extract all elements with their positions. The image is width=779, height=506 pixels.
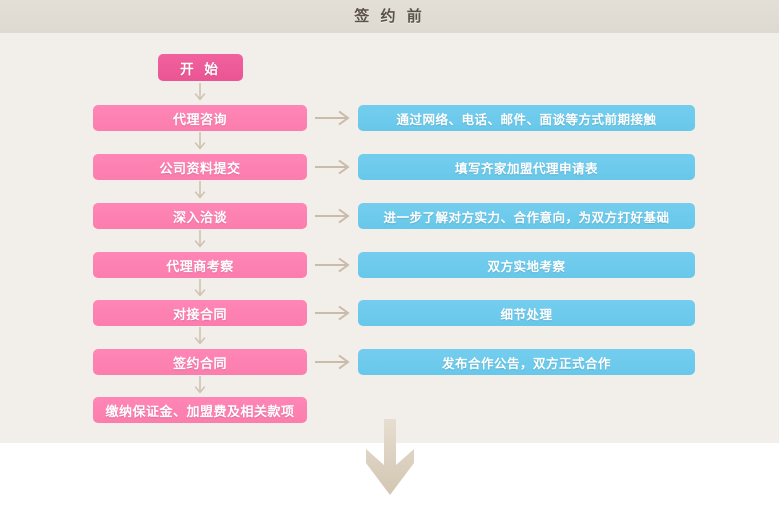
flow-detail-6[interactable]: 发布合作公告，双方正式合作 <box>358 349 695 375</box>
right-arrow-icon <box>314 158 352 176</box>
flow-detail-2[interactable]: 填写齐家加盟代理申请表 <box>358 154 695 180</box>
right-arrow-icon <box>314 304 352 322</box>
down-arrow-icon <box>193 278 207 300</box>
flow-node-start[interactable]: 开 始 <box>158 54 243 81</box>
flow-detail-5[interactable]: 细节处理 <box>358 300 695 326</box>
right-arrow-icon <box>314 256 352 274</box>
down-arrow-icon <box>193 131 207 153</box>
flow-detail-4[interactable]: 双方实地考察 <box>358 252 695 278</box>
flow-node-step-1[interactable]: 代理咨询 <box>93 105 307 131</box>
down-arrow-icon <box>193 375 207 397</box>
right-arrow-icon <box>314 207 352 225</box>
flow-detail-1[interactable]: 通过网络、电话、邮件、面谈等方式前期接触 <box>358 105 695 131</box>
right-arrow-icon <box>314 353 352 371</box>
flow-node-step-3[interactable]: 深入洽谈 <box>93 203 307 229</box>
flow-node-step-4[interactable]: 代理商考察 <box>93 252 307 278</box>
down-arrow-icon <box>193 326 207 348</box>
flow-node-step-2[interactable]: 公司资料提交 <box>93 154 307 180</box>
down-arrow-icon <box>193 229 207 251</box>
right-arrow-icon <box>314 109 352 127</box>
flowchart-root: 签 约 前 开 始 代理咨询 公司资料提交 深入洽谈 代理商考察 对接合同 <box>0 0 779 506</box>
header-bar: 签 约 前 <box>0 0 779 33</box>
big-down-arrow-icon <box>362 419 418 503</box>
flow-node-step-6[interactable]: 签约合同 <box>93 349 307 375</box>
down-arrow-icon <box>193 180 207 202</box>
flow-node-step-7[interactable]: 缴纳保证金、加盟费及相关款项 <box>93 397 307 423</box>
down-arrow-icon <box>193 82 207 104</box>
flow-node-step-5[interactable]: 对接合同 <box>93 300 307 326</box>
page-title: 签 约 前 <box>0 0 779 33</box>
diagram-panel <box>0 33 779 443</box>
flow-detail-3[interactable]: 进一步了解对方实力、合作意向，为双方打好基础 <box>358 203 695 229</box>
